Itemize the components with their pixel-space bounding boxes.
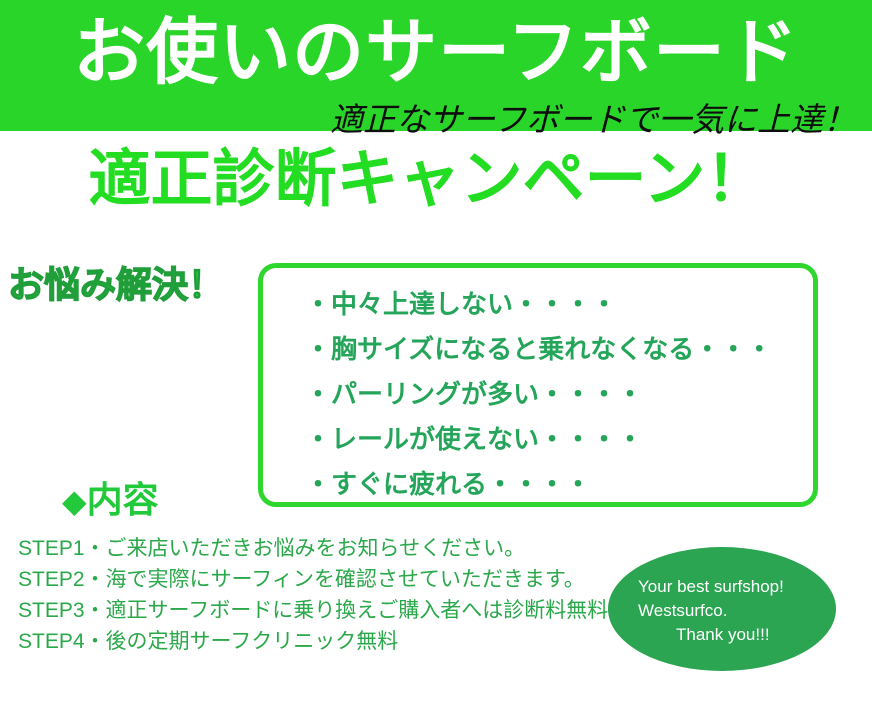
- shop-badge-line-3: Thank you!!!: [638, 623, 818, 647]
- shop-badge-line-2: Westsurfco.: [638, 599, 818, 623]
- list-item: ・パーリングが多い・・・・: [305, 372, 803, 417]
- worry-section-label: お悩み解決！: [8, 262, 224, 308]
- step-list: STEP1・ご来店いただきお悩みをお知らせください。 STEP2・海で実際にサー…: [18, 533, 638, 657]
- problem-list: ・中々上達しない・・・・ ・胸サイズになると乗れなくなる・・・ ・パーリングが多…: [305, 282, 803, 507]
- poster-root: お使いのサーフボード 適正なサーフボードで一気に上達！ 適正診断キャンペーン！ …: [0, 0, 872, 702]
- problem-list-box: ・中々上達しない・・・・ ・胸サイズになると乗れなくなる・・・ ・パーリングが多…: [258, 263, 818, 507]
- subtitle-tagline: 適正なサーフボードで一気に上達！: [0, 100, 856, 140]
- shop-badge-line-1: Your best surfshop!: [638, 575, 818, 599]
- list-item: STEP2・海で実際にサーフィンを確認させていただきます。: [18, 564, 638, 595]
- list-item: STEP3・適正サーフボードに乗り換えご購入者へは診断料無料。: [18, 595, 638, 626]
- content-heading-label: 内容: [87, 479, 159, 520]
- diamond-icon: ◆: [62, 483, 87, 519]
- list-item: ・すぐに疲れる・・・・: [305, 462, 803, 507]
- list-item: ・中々上達しない・・・・: [305, 282, 803, 327]
- shop-badge: Your best surfshop! Westsurfco. Thank yo…: [608, 547, 836, 671]
- shop-badge-text: Your best surfshop! Westsurfco. Thank yo…: [638, 575, 818, 647]
- list-item: ・レールが使えない・・・・: [305, 417, 803, 462]
- campaign-headline: 適正診断キャンペーン！: [0, 142, 856, 218]
- content-section-heading: ◆内容: [62, 478, 159, 523]
- list-item: STEP4・後の定期サーフクリニック無料: [18, 626, 638, 657]
- list-item: ・胸サイズになると乗れなくなる・・・: [305, 327, 803, 372]
- list-item: STEP1・ご来店いただきお悩みをお知らせください。: [18, 533, 638, 564]
- page-title: お使いのサーフボード: [0, 6, 872, 100]
